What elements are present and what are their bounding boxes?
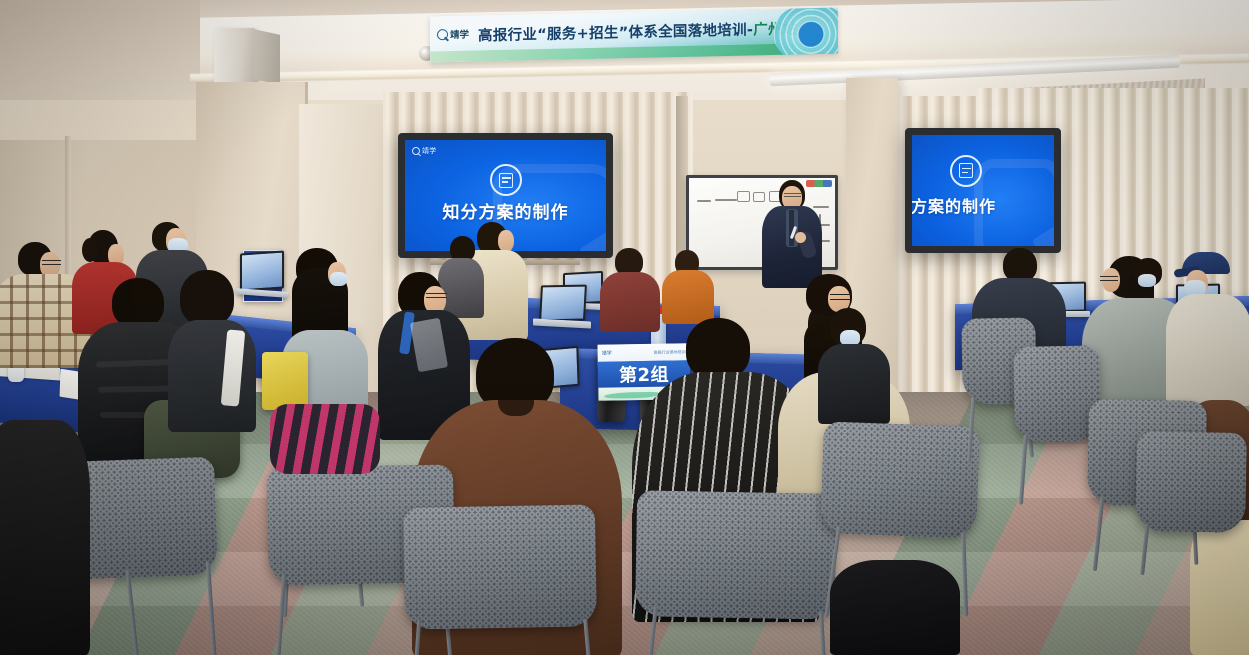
document-in-circle-icon (490, 164, 522, 196)
chair-right-corner[interactable] (1135, 431, 1247, 533)
screen-background: 分方案的制作 (912, 135, 1054, 246)
chair-seatback (1135, 431, 1247, 533)
glasses-icon (42, 260, 61, 265)
attendee-face (498, 230, 514, 252)
presenter-glasses-icon (784, 193, 801, 197)
attendee-body (0, 420, 90, 655)
banner-brand-logo: 靖学 (437, 27, 469, 42)
event-banner: 靖学 高报行业“服务+招生”体系全国落地培训-广州站 (430, 8, 838, 63)
screen-brand-logo: 靖学 (412, 146, 436, 156)
training-room-photo: 靖学 高报行业“服务+招生”体系全国落地培训-广州站 靖学 知分方案的制作 分方… (0, 0, 1249, 655)
chair-seatback (820, 421, 980, 538)
secondary-presentation-screen[interactable]: 分方案的制作 (905, 128, 1061, 253)
presenter-hand (795, 232, 806, 243)
attendee-body (1166, 294, 1249, 406)
laptop-screen[interactable] (240, 250, 284, 291)
banner-brand-text: 靖学 (450, 27, 469, 41)
tent-subtitle: 高报行业落地培训 (654, 349, 686, 356)
ponytail (82, 238, 98, 262)
attendee-body (438, 258, 484, 318)
laptop-screen[interactable] (539, 285, 587, 322)
glasses-icon (426, 293, 447, 298)
banner-headline: 高报行业“服务+招生”体系全国落地培训-广州站 (478, 17, 798, 45)
attendee-hair (686, 318, 750, 380)
glasses-icon (830, 294, 852, 300)
q-logo-icon (437, 29, 448, 40)
attendee-hair (1003, 248, 1037, 282)
glasses-icon (1100, 276, 1118, 281)
chair-seatback (635, 490, 837, 619)
attendee-hair (180, 270, 234, 326)
tent-card-header: 靖学 高报行业落地培训 (598, 343, 690, 362)
face-mask (330, 272, 347, 286)
attendee-body (600, 272, 660, 332)
tote-bag (262, 352, 308, 410)
chair-right-mid[interactable] (820, 421, 980, 538)
q-logo-icon (412, 147, 420, 155)
face-mask (1138, 274, 1156, 287)
banner-headline-text: 高报行业“服务+招生”体系全国落地培训- (478, 22, 753, 44)
striped-bag (270, 404, 380, 474)
attendee-body (662, 270, 714, 324)
chair-seatback (403, 504, 597, 629)
document-in-circle-icon (950, 155, 982, 187)
screen-brand-text: 靖学 (422, 146, 436, 156)
projector-mount (214, 28, 256, 88)
slide-title: 分方案的制作 (905, 193, 1054, 217)
slide-title: 知分方案的制作 (405, 198, 606, 223)
tent-brand: 靖学 (602, 350, 612, 357)
marker-tray-icon (806, 180, 832, 187)
attendee-body (818, 344, 890, 424)
chair-foreground-center[interactable] (403, 504, 597, 629)
chair-foreground-center-right[interactable] (635, 490, 837, 619)
attendee-hair (112, 278, 164, 328)
attendee-body (830, 560, 960, 655)
